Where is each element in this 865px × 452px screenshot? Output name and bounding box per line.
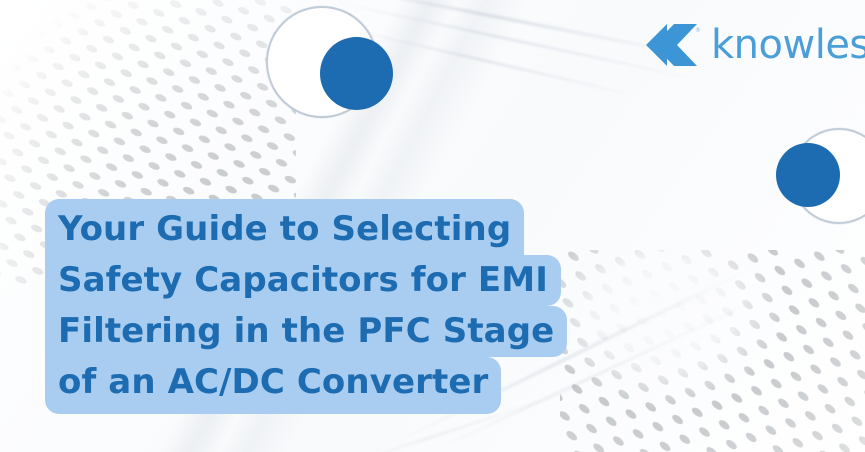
knowles-chevron-logo-icon: ® (645, 22, 701, 68)
brand-logo[interactable]: ® knowles (645, 22, 865, 68)
svg-text:®: ® (695, 27, 701, 34)
page-title-line: Filtering in the PFC Stage (45, 306, 567, 357)
page-title-line: Your Guide to Selecting (45, 199, 524, 255)
knowles-article-banner: ® knowles Your Guide to Selecting Safety… (0, 0, 865, 452)
page-title: Your Guide to Selecting Safety Capacitor… (45, 199, 645, 414)
solid-circle-right (776, 143, 840, 207)
brand-wordmark: knowles (711, 25, 865, 65)
solid-circle-top (320, 37, 393, 110)
page-title-line: Safety Capacitors for EMI (45, 255, 561, 306)
page-title-line: of an AC/DC Converter (45, 357, 501, 414)
